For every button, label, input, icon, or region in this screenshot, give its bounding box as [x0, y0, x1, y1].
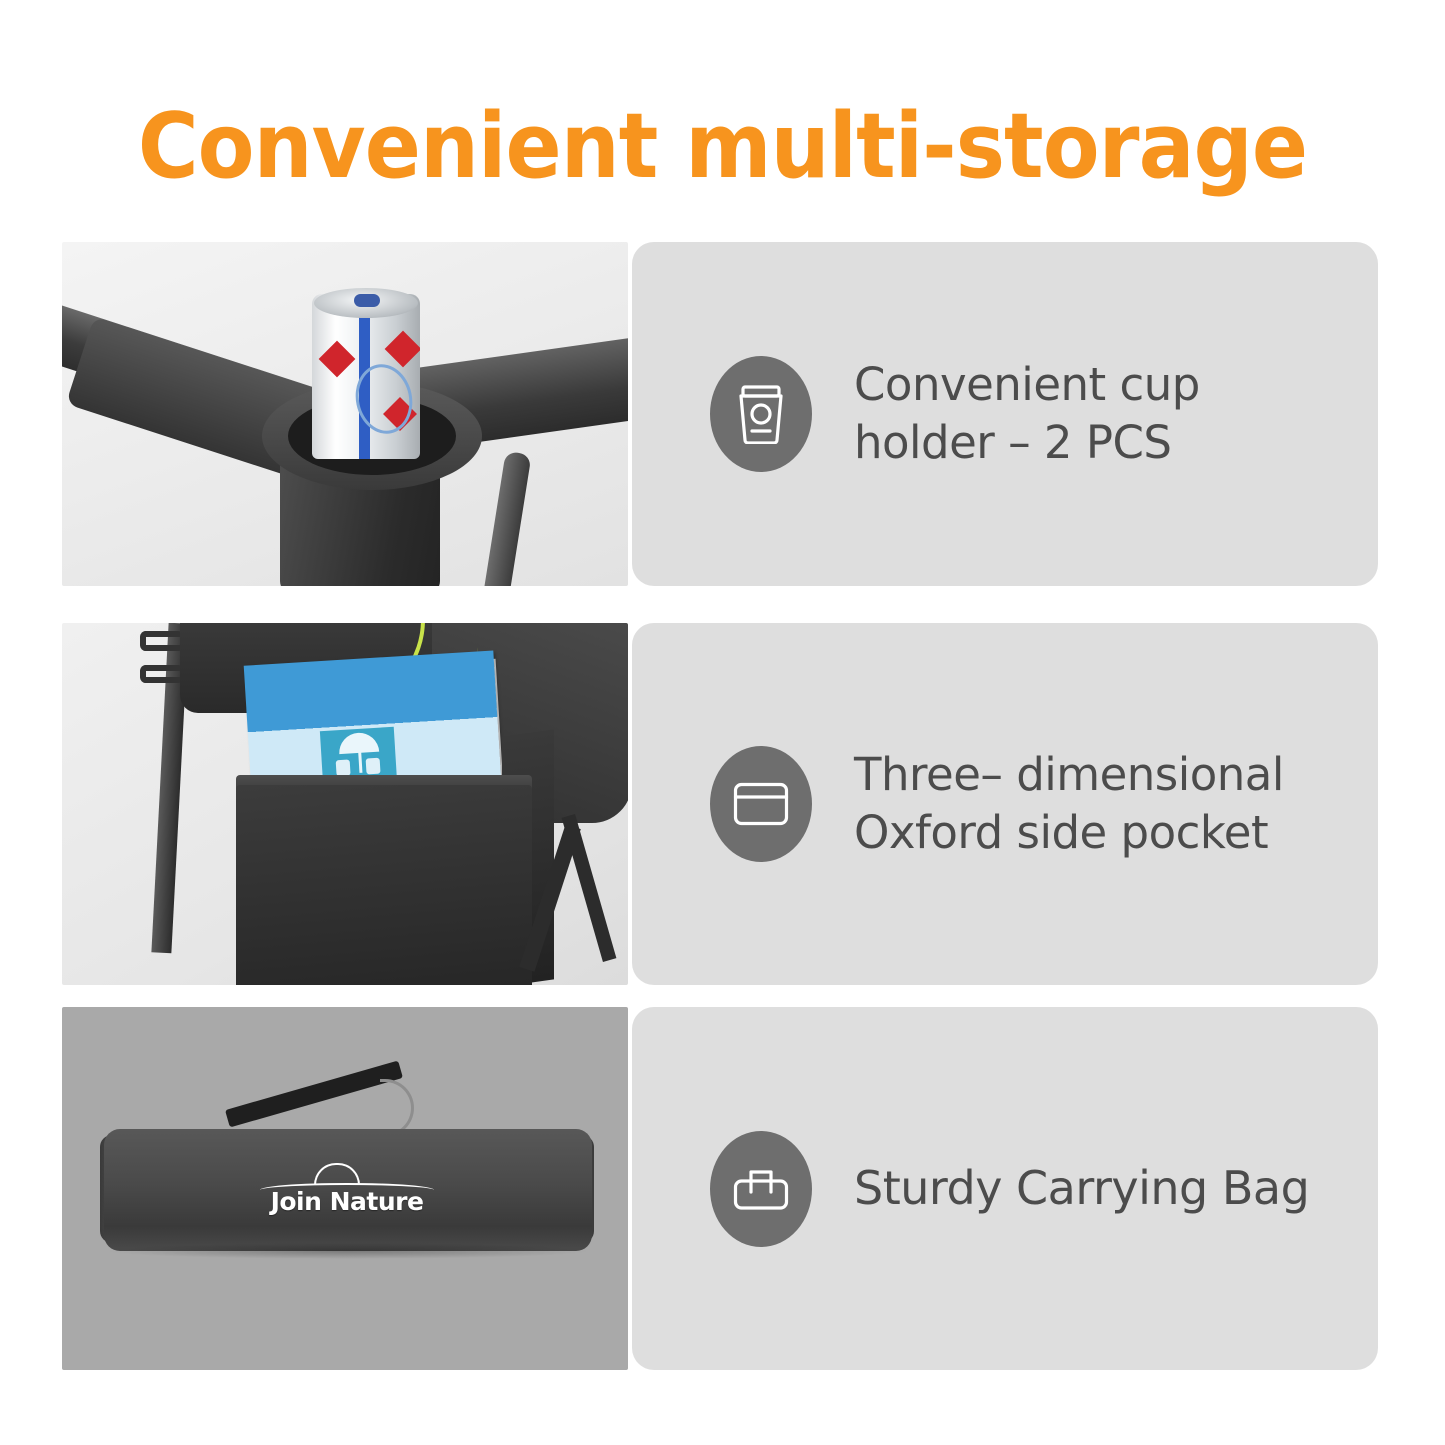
chair-leg-rear — [562, 814, 617, 962]
feature-label-line-1: Convenient cup — [854, 356, 1200, 415]
feature-label-line-2: Oxford side pocket — [854, 804, 1284, 863]
feature-label-line-2: holder – 2 PCS — [854, 414, 1200, 473]
feature-label-side-pocket: Three– dimensional Oxford side pocket — [854, 746, 1284, 863]
feature-label-line-1: Sturdy Carrying Bag — [854, 1159, 1309, 1219]
feature-card-cup-holder: Convenient cup holder – 2 PCS — [632, 242, 1378, 586]
coffee-cup-icon — [710, 356, 812, 472]
page-title-text: Convenient multi-storage — [138, 102, 1307, 192]
pole-hook-upper — [140, 631, 184, 651]
page-title: Convenient multi-storage — [0, 92, 1445, 202]
bag-ground-shadow — [104, 1243, 592, 1259]
feature-row-cup-holder: Convenient cup holder – 2 PCS — [62, 242, 1378, 586]
feature-label-carry-bag: Sturdy Carrying Bag — [854, 1159, 1309, 1219]
can-pull-tab — [354, 294, 380, 307]
feature-label-cup-holder: Convenient cup holder – 2 PCS — [854, 356, 1200, 473]
feature-row-carry-bag: Join Nature Sturdy Carrying Bag — [62, 1007, 1378, 1370]
feature-row-side-pocket: Three– dimensional Oxford side pocket — [62, 623, 1378, 985]
magazine-beach-chair-right — [366, 758, 381, 775]
magazine-beach-chair-left — [336, 759, 351, 776]
feature-card-side-pocket: Three– dimensional Oxford side pocket — [632, 623, 1378, 985]
carry-bag-icon — [710, 1131, 812, 1247]
oxford-side-pocket — [236, 785, 532, 985]
can-diamond-left — [319, 341, 356, 378]
pole-hook-lower — [140, 665, 184, 683]
infographic-page: Convenient multi-storage — [0, 0, 1445, 1445]
bag-carry-strap — [225, 1061, 403, 1128]
photo-carry-bag: Join Nature — [62, 1007, 628, 1370]
brand-logo: Join Nature — [252, 1177, 442, 1206]
can-diamond-right — [385, 331, 420, 368]
photo-side-pocket — [62, 623, 628, 985]
feature-card-carry-bag: Sturdy Carrying Bag — [632, 1007, 1378, 1370]
beverage-can — [312, 294, 420, 459]
photo-cup-holder — [62, 242, 628, 586]
card-pocket-icon — [710, 746, 812, 862]
brand-logo-text: Join Nature — [252, 1187, 442, 1216]
chair-leg — [482, 451, 531, 586]
feature-label-line-1: Three– dimensional — [854, 746, 1284, 805]
